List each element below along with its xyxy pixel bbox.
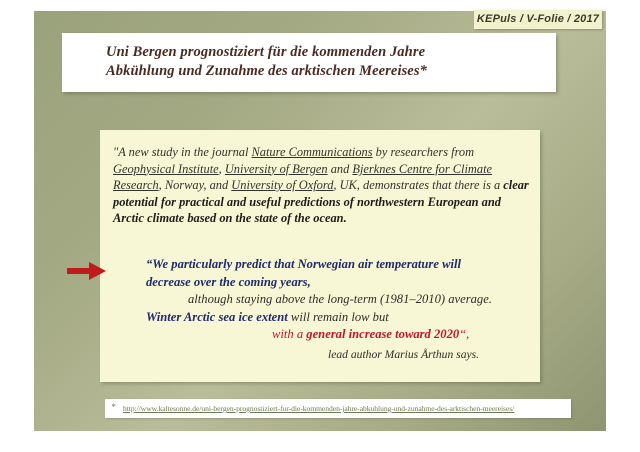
red-arrow-icon — [67, 261, 107, 281]
quote-seg-5: , Norway, and — [159, 178, 232, 192]
prediction-line-4-rest: will remain low but — [288, 310, 389, 324]
lead-author-attribution: lead author Marius Årthun says. — [328, 346, 536, 364]
quote-seg-2: by researchers from — [373, 145, 475, 159]
link-geophysical-institute[interactable]: Geophysical Institute — [113, 162, 219, 176]
prediction-line-4-bold: Winter Arctic sea ice extent — [146, 310, 288, 324]
link-university-of-bergen[interactable]: University of Bergen — [225, 162, 328, 176]
link-nature-communications[interactable]: Nature Communications — [252, 145, 373, 159]
source-url-strip: * http://www.kaltesonne.de/uni-bergen-pr… — [105, 399, 571, 418]
prediction-line-3: although staying above the long-term (19… — [188, 291, 536, 309]
title-line-2: Abkühlung und Zunahme des arktischen Mee… — [106, 62, 546, 81]
quote-paragraph: "A new study in the journal Nature Commu… — [113, 144, 531, 227]
footnote-marker: * — [111, 402, 116, 412]
prediction-line-5: with a general increase toward 2020“, — [272, 326, 536, 344]
prediction-line-5-lead: with a — [272, 327, 306, 341]
prediction-line-1: “We particularly predict that Norwegian … — [146, 257, 461, 271]
page-title: Uni Bergen prognostiziert für die kommen… — [106, 43, 546, 81]
prediction-line-4: Winter Arctic sea ice extent will remain… — [146, 309, 536, 327]
header-badge-label: KEPuls / V-Folie / 2017 — [474, 10, 602, 29]
quote-seg-4: and — [328, 162, 353, 176]
source-url-link[interactable]: http://www.kaltesonne.de/uni-bergen-prog… — [123, 403, 567, 414]
slide-canvas: KEPuls / V-Folie / 2017 Uni Bergen progn… — [0, 0, 640, 452]
prediction-line-5-bold: general increase toward 2020 — [306, 327, 459, 341]
title-box: Uni Bergen prognostiziert für die kommen… — [62, 33, 556, 92]
header-badge: KEPuls / V-Folie / 2017 — [474, 10, 602, 29]
link-university-of-oxford[interactable]: University of Oxford — [231, 178, 333, 192]
prediction-line-2: decrease over the coming years, — [146, 274, 536, 292]
prediction-line-5-tail: “, — [459, 327, 469, 341]
quote-seg-1: "A new study in the journal — [113, 145, 252, 159]
title-line-1: Uni Bergen prognostiziert für die kommen… — [106, 44, 425, 60]
quote-panel: "A new study in the journal Nature Commu… — [100, 130, 540, 382]
prediction-block: “We particularly predict that Norwegian … — [146, 256, 536, 363]
quote-seg-6: , UK, demonstrates that there is a — [333, 178, 503, 192]
